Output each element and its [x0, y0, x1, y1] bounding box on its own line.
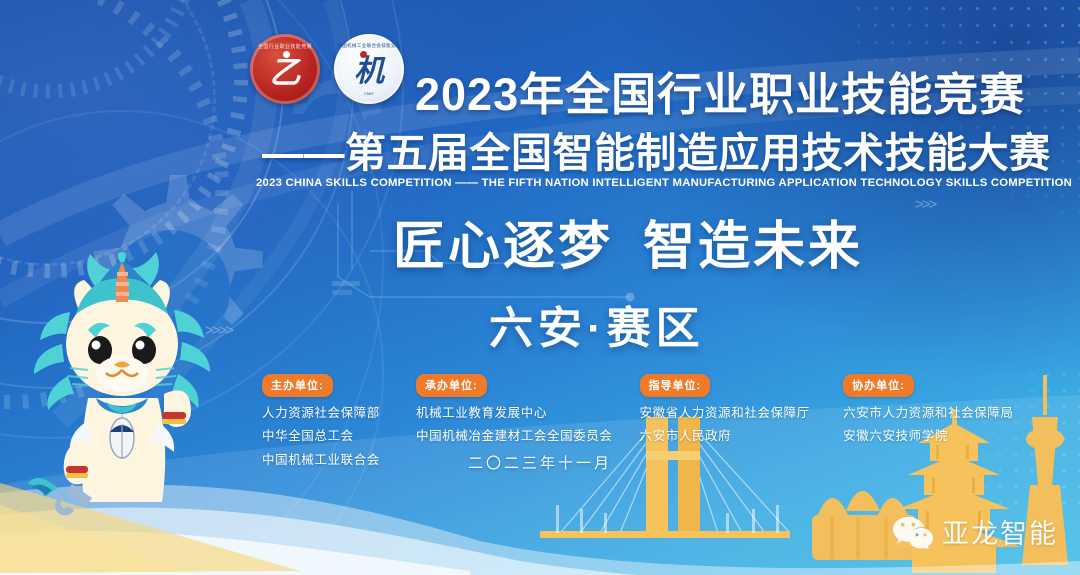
organiser-line: 人力资源社会保障部 [262, 404, 416, 423]
emblem-ring-text: 中国机械工业联合会技能竞赛 [334, 43, 404, 49]
event-date: 二〇二三年十一月 [0, 452, 1080, 473]
china-skills-competition-emblem: 全国行业职业技能竞赛 乙 [250, 34, 320, 104]
page-subtitle: ——第五届全国智能制造应用技术技能大赛 [262, 119, 1051, 179]
region-label: 六安·赛区 [489, 292, 705, 356]
emblem-mark: 乙 [270, 57, 301, 88]
emblem-row: 全国行业职业技能竞赛 乙 中国机械工业联合会技能竞赛 机 CMIF [250, 34, 404, 104]
organiser-line: 安徽六安技师学院 [843, 427, 1022, 446]
watermark: 亚龙智能 [893, 512, 1058, 551]
emblem-ring-text: 全国行业职业技能竞赛 [250, 43, 320, 50]
organiser-line: 中国机械冶金建材工会全国委员会 [416, 427, 640, 446]
emblem-mark: 机 [354, 57, 384, 87]
slogan-part2: 智造未来 [643, 218, 863, 276]
poster-banner: >>>> >>> [0, 0, 1080, 575]
page-title: 2023年全国行业职业技能竞赛 [415, 58, 1025, 123]
status-badge: 承办单位: [416, 374, 487, 397]
status-badge: 主办单位: [262, 374, 333, 397]
status-badge: 指导单位: [640, 374, 711, 397]
watermark-label: 亚龙智能 [942, 512, 1058, 551]
organiser-line: 机械工业教育发展中心 [416, 404, 640, 423]
emblem-subtext: CMIF [334, 91, 404, 96]
slogan: 匠心逐梦智造未来 [393, 204, 863, 279]
organiser-line: 安徽省人力资源和社会保障厅 [640, 404, 844, 423]
chevron-decor: >>> [915, 196, 935, 213]
organiser-line: 中华全国总工会 [262, 427, 416, 446]
status-badge: 协办单位: [843, 374, 914, 397]
emblem-dot [360, 51, 367, 58]
organiser-line: 六安市人力资源和社会保障局 [843, 404, 1022, 423]
machinery-industry-emblem: 中国机械工业联合会技能竞赛 机 CMIF [334, 34, 404, 104]
page-title-english: 2023 CHINA SKILLS COMPETITION —— THE FIF… [256, 177, 1016, 189]
emblem-dot [283, 51, 290, 58]
wechat-icon [893, 515, 933, 549]
qilin-cat-mascot [22, 252, 222, 537]
organiser-line: 六安市人民政府 [640, 427, 844, 446]
slogan-part1: 匠心逐梦 [393, 218, 613, 276]
